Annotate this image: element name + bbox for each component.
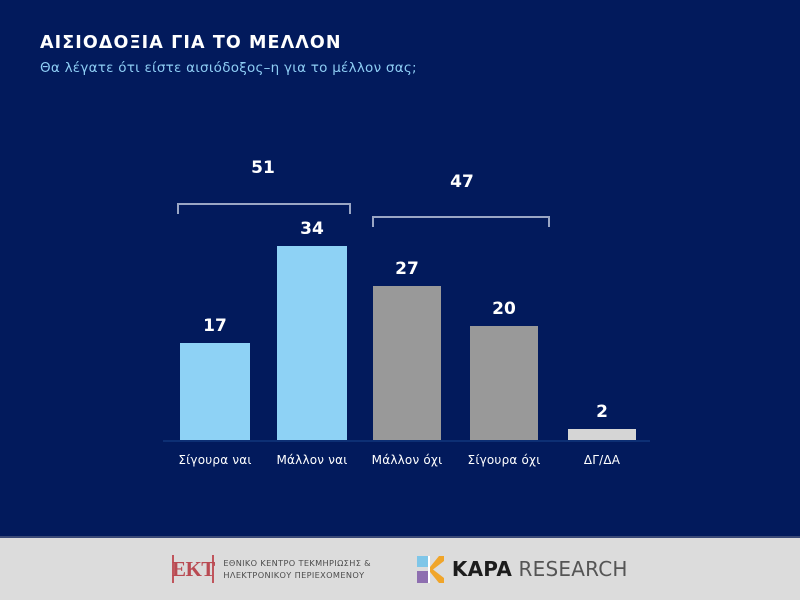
ekt-logo-text-line2: ΗΛΕΚΤΡΟΝΙΚΟΥ ΠΕΡΙΕΧΟΜΕΝΟΥ [223,569,371,581]
x-axis-line [163,440,650,442]
bar-value-label: 2 [596,402,608,422]
bar-rect [180,343,250,440]
bar-rect [277,246,347,440]
bar-3: 27 [373,0,441,440]
bar-4: 20 [470,0,538,440]
x-axis-label: Σίγουρα όχι [468,453,541,467]
x-axis-label: ΔΓ/ΔΑ [584,453,620,467]
bar-rect [373,286,441,440]
footer-band: EKT ΕΘΝΙΚΟ ΚΕΝΤΡΟ ΤΕΚΜΗΡΙΩΣΗΣ & ΗΛΕΚΤΡΟΝ… [0,536,800,600]
ekt-logo: EKT ΕΘΝΙΚΟ ΚΕΝΤΡΟ ΤΕΚΜΗΡΙΩΣΗΣ & ΗΛΕΚΤΡΟΝ… [172,555,371,583]
footer-logos: EKT ΕΘΝΙΚΟ ΚΕΝΤΡΟ ΤΕΚΜΗΡΙΩΣΗΣ & ΗΛΕΚΤΡΟΝ… [0,538,800,600]
ekt-logo-letters: EKT [172,559,215,580]
ekt-logo-text-line1: ΕΘΝΙΚΟ ΚΕΝΤΡΟ ΤΕΚΜΗΡΙΩΣΗΣ & [223,557,371,569]
bar-value-label: 34 [300,219,324,239]
bar-rect [470,326,538,440]
x-axis-label: Σίγουρα ναι [178,453,251,467]
x-axis-label: Μάλλον ναι [277,453,348,467]
kapa-wordmark-bold: KAPA [452,557,512,581]
kapa-wordmark: KAPA RESEARCH [452,559,628,579]
bar-5: 2 [568,0,636,440]
slide-canvas: ΑΙΣΙΟΔΟΞΙΑ ΓΙΑ ΤΟ ΜΕΛΛΟΝ Θα λέγατε ότι ε… [0,0,800,600]
bar-value-label: 20 [492,299,516,319]
bar-1: 17 [180,0,250,440]
x-axis-label: Μάλλον όχι [372,453,443,467]
chart-plot-area: 5147 173427202 Σίγουρα ναιΜάλλον ναιΜάλλ… [0,0,800,536]
kapa-k-mark-icon [417,556,444,583]
kapa-wordmark-light: RESEARCH [512,557,628,581]
ekt-logo-mark-icon: EKT [172,555,214,583]
kapa-research-logo: KAPA RESEARCH [417,556,628,583]
bar-rect [568,429,636,440]
group-bracket-value: 51 [251,158,275,178]
bar-value-label: 17 [203,316,227,336]
ekt-logo-text: ΕΘΝΙΚΟ ΚΕΝΤΡΟ ΤΕΚΜΗΡΙΩΣΗΣ & ΗΛΕΚΤΡΟΝΙΚΟΥ… [223,557,371,581]
bar-value-label: 27 [395,259,419,279]
bar-2: 34 [277,0,347,440]
